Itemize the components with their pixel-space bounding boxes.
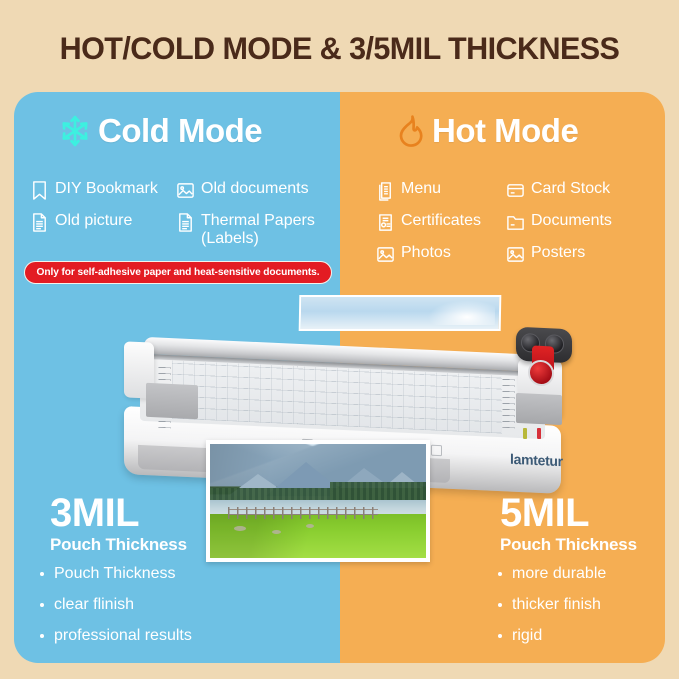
three-mil-block: 3MIL Pouch Thickness bbox=[50, 492, 187, 556]
cold-feature-label: Old picture bbox=[55, 212, 132, 230]
certificate-icon bbox=[376, 212, 395, 233]
cold-feature-sublabel: (Labels) bbox=[201, 230, 315, 248]
list-item: thicker finish bbox=[498, 589, 606, 620]
hot-feature-card-stock: Card Stock bbox=[506, 180, 610, 201]
list-item: more durable bbox=[498, 558, 606, 589]
cold-feature-label: Old documents bbox=[201, 180, 309, 198]
hot-feature-label: Menu bbox=[401, 180, 441, 198]
five-mil-bullets: more durable thicker finish rigid bbox=[498, 558, 606, 651]
hot-feature-posters: Posters bbox=[506, 244, 585, 265]
hot-feature-label: Documents bbox=[531, 212, 612, 230]
grass-field bbox=[210, 514, 426, 558]
cold-mode-heading: Cold Mode bbox=[58, 112, 262, 150]
rock bbox=[234, 526, 246, 531]
list-item: Pouch Thickness bbox=[40, 558, 192, 589]
hot-feature-certificates: Certificates bbox=[376, 212, 481, 233]
hot-mode-label: Hot Mode bbox=[432, 112, 578, 150]
three-mil-value: 3MIL bbox=[50, 492, 187, 534]
image-icon bbox=[176, 180, 195, 201]
cold-feature-thermal-papers: Thermal Papers (Labels) bbox=[176, 212, 315, 248]
hot-feature-label: Posters bbox=[531, 244, 585, 262]
list-item: professional results bbox=[40, 620, 192, 651]
page-title: HOT/COLD MODE & 3/5MIL THICKNESS bbox=[10, 30, 669, 67]
folder-icon bbox=[506, 212, 525, 233]
cold-feature-label: DIY Bookmark bbox=[55, 180, 158, 198]
list-item: clear flinish bbox=[40, 589, 192, 620]
cold-mode-warning-banner: Only for self-adhesive paper and heat-se… bbox=[24, 261, 332, 284]
hot-feature-menu: Menu bbox=[376, 180, 441, 201]
infographic-page: HOT/COLD MODE & 3/5MIL THICKNESS Cold Mo… bbox=[0, 0, 679, 679]
cold-mode-label: Cold Mode bbox=[98, 112, 262, 150]
poster-icon bbox=[506, 244, 525, 265]
landscape-photo bbox=[210, 444, 426, 558]
fence bbox=[228, 507, 378, 519]
mode-icon-6 bbox=[431, 444, 442, 455]
menu-document-icon bbox=[376, 180, 395, 201]
led-ready bbox=[523, 428, 527, 439]
rock bbox=[306, 524, 314, 528]
output-photo bbox=[206, 440, 430, 562]
tray-right bbox=[516, 393, 562, 425]
snowflake-icon bbox=[58, 114, 92, 148]
bookmark-icon bbox=[30, 180, 49, 201]
five-mil-caption: Pouch Thickness bbox=[500, 534, 637, 556]
list-item: rigid bbox=[498, 620, 606, 651]
cold-feature-old-documents: Old documents bbox=[176, 180, 309, 201]
cold-feature-diy-bookmark: DIY Bookmark bbox=[30, 180, 158, 201]
five-mil-value: 5MIL bbox=[500, 492, 637, 534]
hot-feature-label: Photos bbox=[401, 244, 451, 262]
hot-feature-photos: Photos bbox=[376, 244, 451, 265]
cold-feature-old-picture: Old picture bbox=[30, 212, 132, 233]
led-power bbox=[537, 428, 541, 439]
cold-feature-label: Thermal Papers bbox=[201, 212, 315, 230]
rock bbox=[272, 530, 281, 534]
hot-feature-documents: Documents bbox=[506, 212, 612, 233]
rotary-selector[interactable] bbox=[528, 359, 554, 386]
document-lines-icon bbox=[176, 212, 195, 233]
five-mil-block: 5MIL Pouch Thickness bbox=[500, 492, 637, 556]
hot-feature-label: Card Stock bbox=[531, 180, 610, 198]
hot-mode-heading: Hot Mode bbox=[396, 112, 578, 150]
brand-logo: lamtetur bbox=[510, 451, 563, 469]
document-icon bbox=[30, 212, 49, 233]
photo-icon bbox=[376, 244, 395, 265]
hot-feature-label: Certificates bbox=[401, 212, 481, 230]
card-icon bbox=[506, 180, 525, 201]
flame-icon bbox=[396, 114, 426, 148]
three-mil-bullets: Pouch Thickness clear flinish profession… bbox=[40, 558, 192, 651]
tray-left bbox=[146, 383, 198, 419]
three-mil-caption: Pouch Thickness bbox=[50, 534, 187, 556]
